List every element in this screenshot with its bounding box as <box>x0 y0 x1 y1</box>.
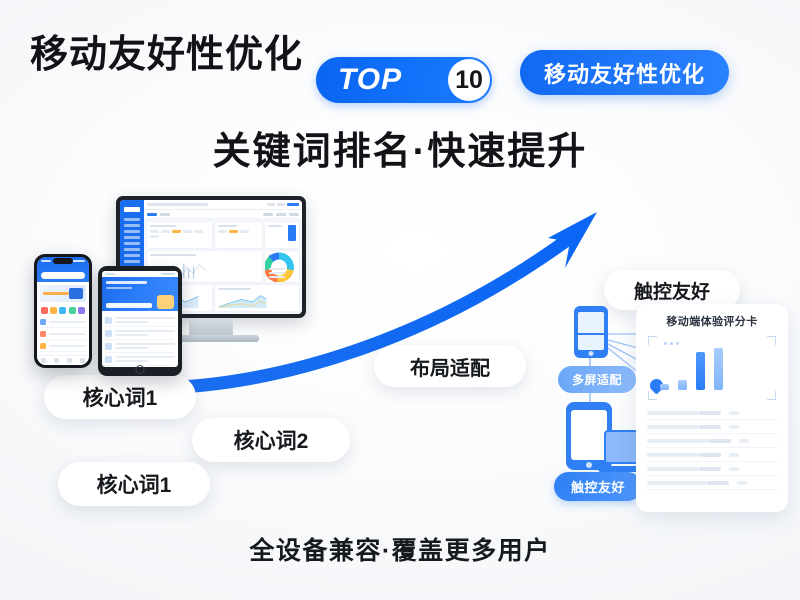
list-item <box>105 340 175 353</box>
dashboard-topbar <box>144 200 302 210</box>
tablet-hero-banner <box>102 277 178 311</box>
device-mockups <box>28 196 338 366</box>
multi-device-diagram: 多屏适配 触控友好 移动端体验评分卡 <box>540 300 790 515</box>
score-card-chart <box>648 336 776 400</box>
dashboard-card <box>265 222 299 248</box>
table-row <box>647 462 777 476</box>
dashboard-chart-card <box>215 285 299 311</box>
mobile-score-card: 移动端体验评分卡 <box>636 304 788 512</box>
top-badge-word: TOP <box>338 65 402 95</box>
top-badge-number: 10 <box>455 68 483 93</box>
page-subtitle: 关键词排名·快速提升 <box>0 120 800 175</box>
table-row <box>647 476 777 490</box>
dashboard-donut-card <box>265 251 299 283</box>
tablet-screen <box>102 271 178 367</box>
footer-tagline: 全设备兼容·覆盖更多用户 <box>0 531 800 567</box>
table-row <box>647 448 777 462</box>
phone-tabbar <box>37 355 89 365</box>
table-row <box>647 406 777 420</box>
phone-icon-row <box>37 305 89 316</box>
score-card-rows <box>636 400 788 490</box>
monitor-stand <box>189 318 233 336</box>
dashboard-tabs <box>144 210 302 219</box>
list-item <box>105 314 175 327</box>
keyword-pill-3[interactable]: 核心词1 <box>58 462 210 506</box>
smartphone-mockup <box>34 254 92 368</box>
list-item <box>105 327 175 340</box>
dashboard-card <box>215 222 263 248</box>
keyword-pill-1[interactable]: 核心词1 <box>44 375 196 419</box>
diagram-small-phone-icon <box>574 306 608 358</box>
tablet-list <box>102 311 178 367</box>
list-item <box>40 340 86 352</box>
tablet-home-button <box>136 365 145 374</box>
dashboard-card <box>147 222 212 248</box>
diagram-pill-multiscreen: 多屏适配 <box>558 366 636 393</box>
diagram-pill-touch: 触控友好 <box>554 472 642 501</box>
list-item <box>40 328 86 340</box>
table-row <box>647 434 777 448</box>
page-title: 移动友好性优化 <box>30 23 303 78</box>
list-item <box>40 316 86 328</box>
chart-bars <box>660 342 768 390</box>
table-row <box>647 420 777 434</box>
header-tag-pill: 移动友好性优化 <box>520 50 729 95</box>
tablet-mockup <box>98 266 182 376</box>
score-card-title: 移动端体验评分卡 <box>636 313 788 329</box>
keyword-pill-2[interactable]: 核心词2 <box>192 418 350 462</box>
poster-canvas: 移动友好性优化 TOP 10 移动友好性优化 关键词排名·快速提升 <box>0 0 800 600</box>
top-rank-badge: TOP 10 <box>316 57 492 103</box>
phone-banner <box>40 285 86 302</box>
phone-notch <box>53 258 73 264</box>
feature-pill-layout[interactable]: 布局适配 <box>374 345 526 387</box>
phone-search-bar <box>41 272 85 279</box>
top-badge-number-circle: 10 <box>448 59 490 101</box>
phone-screen <box>37 257 89 365</box>
